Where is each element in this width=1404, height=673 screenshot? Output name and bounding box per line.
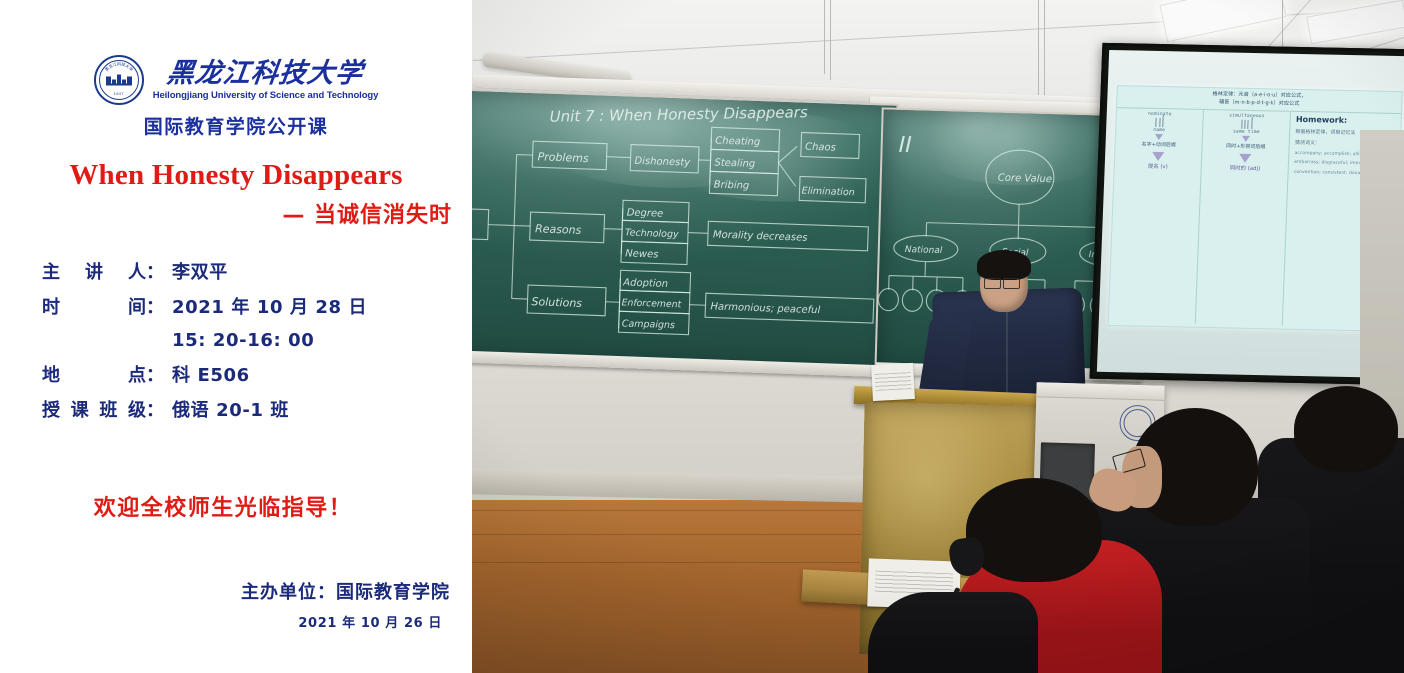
slide-result: 同时的 (adj) xyxy=(1230,163,1261,172)
info-colon: ： xyxy=(146,361,164,387)
university-name-en: Heilongjiang University of Science and T… xyxy=(153,91,379,101)
blackboard-left: Unit 7 : When Honesty Disappears ure Pro… xyxy=(472,88,899,377)
info-row-class: 授课班级 ： 俄语 20-1 班 xyxy=(42,396,462,422)
homework-line: 猜测词义： xyxy=(1295,139,1320,147)
svg-text:Adoption: Adoption xyxy=(622,277,668,290)
info-value: 15: 20-16: 00 xyxy=(172,330,314,351)
homework-title: Homework: xyxy=(1296,115,1348,125)
svg-text:Enforcement: Enforcement xyxy=(621,297,681,310)
ceiling-light-panel xyxy=(1306,0,1404,44)
svg-text:Dishonesty: Dishonesty xyxy=(634,156,691,169)
info-value: 李双平 xyxy=(172,258,228,284)
info-row-time: 时间 ： 2021 年 10 月 28 日 xyxy=(42,293,462,319)
info-value: 科 E506 xyxy=(172,361,250,387)
info-colon: ： xyxy=(146,396,164,422)
slide-column-nominate: nominate name 名字+动词后缀 提名 (v) xyxy=(1109,108,1204,324)
welcome-message: 欢迎全校师生光临指导！ xyxy=(0,490,446,522)
student-red-hood-jacket xyxy=(868,592,1038,673)
slide-result: 提名 (v) xyxy=(1148,161,1168,169)
info-colon: ： xyxy=(146,258,164,284)
slide-column-simultaneous: simultaneous same time 同时+形容词后缀 同时的 (adj… xyxy=(1196,110,1291,326)
info-label: 地点 xyxy=(42,361,146,387)
svg-text:Technology: Technology xyxy=(625,227,679,240)
info-value: 2021 年 10 月 28 日 xyxy=(172,293,367,319)
slide-root: same time xyxy=(1233,129,1260,135)
homework-line: 根据格林定律，词根记忆法 xyxy=(1295,128,1355,136)
lecturer-glasses-icon xyxy=(1003,278,1020,289)
classroom-photograph: Unit 7 : When Honesty Disappears ure Pro… xyxy=(472,0,1404,673)
svg-text:Stealing: Stealing xyxy=(714,157,755,169)
info-row-time-range: 时间 ： 15: 20-16: 00 xyxy=(42,326,462,352)
poster-page: 黑龙江科技大学 1947 黑龙江科技大学 Heilon xyxy=(0,0,1404,673)
info-row-speaker: 主讲人 ： 李双平 xyxy=(42,258,462,284)
svg-text:Degree: Degree xyxy=(626,207,663,219)
university-name-cn: 黑龙江科技大学 xyxy=(166,60,365,87)
svg-text:Elimination: Elimination xyxy=(801,186,855,199)
lectern-card xyxy=(871,363,915,401)
info-label: 时间 xyxy=(42,293,146,319)
slide-note: 同时+形容词后缀 xyxy=(1226,142,1265,150)
lecturer-hair xyxy=(977,250,1031,280)
svg-text:Cheating: Cheating xyxy=(715,135,760,148)
presentation-slide: 格林定律：元音（a·e·i·o·u）对应公式， 辅音（m·n·b·p·d·t·g… xyxy=(1108,86,1403,332)
organiser-line: 主办单位：国际教育学院 xyxy=(0,578,450,604)
svg-text:Morality decreases: Morality decreases xyxy=(713,229,808,243)
svg-text:Newes: Newes xyxy=(625,248,659,260)
svg-text:黑龙江科技大学: 黑龙江科技大学 xyxy=(104,60,135,72)
homework-vocab: convention; consistent; donation xyxy=(1294,170,1369,177)
poster-info-list: 主讲人 ： 李双平 时间 ： 2021 年 10 月 28 日 时间 ： 15:… xyxy=(42,258,462,431)
svg-text:Solutions: Solutions xyxy=(531,295,582,310)
seal-year: 1947 xyxy=(96,91,142,96)
chalk-mindmap-left: Unit 7 : When Honesty Disappears ure Pro… xyxy=(472,90,897,375)
slide-word: simultaneous xyxy=(1229,113,1265,119)
slide-note: 名字+动词后缀 xyxy=(1141,140,1175,148)
svg-text:II: II xyxy=(898,133,912,158)
svg-text:Unit 7 : When Honesty Disappea: Unit 7 : When Honesty Disappears xyxy=(550,103,808,126)
info-label: 主讲人 xyxy=(42,258,146,284)
lecturer-glasses-icon xyxy=(984,278,1001,289)
svg-text:Core Value: Core Value xyxy=(998,173,1052,186)
student-red-hood-head xyxy=(966,478,1102,582)
poster-title-cn: — 当诚信消失时 xyxy=(0,197,452,229)
student-back-right-head xyxy=(1294,386,1398,472)
svg-text:Harmonious; peaceful: Harmonious; peaceful xyxy=(710,301,820,316)
lecture-poster: 黑龙江科技大学 1947 黑龙江科技大学 Heilon xyxy=(0,0,472,673)
ceiling-light-panel xyxy=(1159,0,1286,42)
info-label: 授课班级 xyxy=(42,396,146,422)
poster-title-en: When Honesty Disappears xyxy=(0,159,472,192)
svg-text:Chaos: Chaos xyxy=(805,142,836,154)
organiser-date: 2021 年 10 月 26 日 xyxy=(0,612,442,631)
info-colon: ： xyxy=(146,293,164,319)
svg-text:Bribing: Bribing xyxy=(714,179,750,191)
svg-text:Reasons: Reasons xyxy=(535,222,582,237)
info-value: 俄语 20-1 班 xyxy=(172,396,289,422)
poster-header: 黑龙江科技大学 1947 黑龙江科技大学 Heilon xyxy=(0,55,472,139)
department-line: 国际教育学院公开课 xyxy=(0,112,472,139)
slide-word: nominate xyxy=(1148,111,1172,116)
svg-text:Problems: Problems xyxy=(537,150,589,165)
projector-screen: 格林定律：元音（a·e·i·o·u）对应公式， 辅音（m·n·b·p·d·t·g… xyxy=(1090,43,1404,385)
slide-root: name xyxy=(1153,128,1165,133)
svg-text:National: National xyxy=(905,245,943,256)
info-row-venue: 地点 ： 科 E506 xyxy=(42,361,462,387)
university-seal-icon: 黑龙江科技大学 1947 xyxy=(94,55,144,105)
svg-text:Campaigns: Campaigns xyxy=(622,318,676,331)
